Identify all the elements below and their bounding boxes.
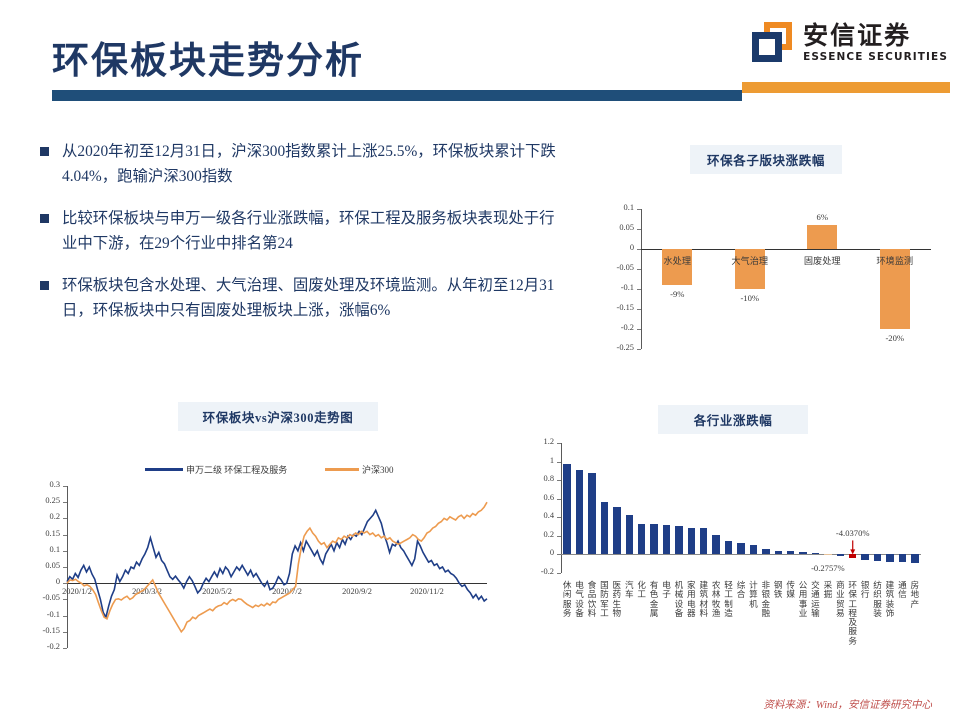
bar-category-label: 电子 — [662, 581, 671, 600]
chart-subsector-bar: 0.10.050-0.05-0.1-0.15-0.2-0.25水处理-9%大气治… — [595, 195, 945, 370]
y-tick — [637, 309, 641, 310]
y-tick — [637, 269, 641, 270]
bar — [911, 554, 918, 562]
y-tick-label: 1.2 — [525, 437, 554, 446]
bar-category-label: 建筑装饰 — [885, 581, 894, 618]
bullet-list: 从2020年初至12月31日，沪深300指数累计上涨25.5%，环保板块累计下跌… — [40, 140, 560, 341]
y-tick-label: 0.05 — [595, 223, 634, 232]
bar — [812, 553, 819, 554]
y-tick — [557, 536, 561, 537]
source-note: 资料来源：Wind，安信证券研究中心 — [763, 697, 932, 712]
bar — [861, 554, 868, 559]
bar — [712, 535, 719, 555]
y-tick-label: 0.1 — [595, 203, 634, 212]
bar-category-label: 通信 — [898, 581, 907, 600]
chart-title-trend: 环保板块vs沪深300走势图 — [178, 402, 378, 431]
y-tick — [557, 480, 561, 481]
bar-category-label: 环保工程及服务 — [848, 581, 857, 646]
header-rule-blue — [52, 90, 742, 101]
bullet-text: 比较环保板块与申万一级各行业涨跌幅，环保工程及服务板块表现处于行业中下游，在29… — [62, 207, 560, 257]
logo-chinese-name: 安信证券 — [803, 23, 948, 48]
bar-category-label: 非银金融 — [761, 581, 770, 618]
bar — [688, 528, 695, 555]
y-tick-label: 0 — [525, 548, 554, 557]
bar-category-label: 大气治理 — [720, 253, 780, 267]
list-item: 从2020年初至12月31日，沪深300指数累计上涨25.5%，环保板块累计下跌… — [40, 140, 560, 190]
y-tick — [557, 517, 561, 518]
bar — [563, 464, 570, 554]
bar-category-label: 建筑材料 — [699, 581, 708, 618]
bar — [775, 551, 782, 555]
list-item: 环保板块包含水处理、大气治理、固废处理及环境监测。从年初至12月31日，环保板块… — [40, 274, 560, 324]
logo-english-name: ESSENCE SECURITIES — [803, 52, 948, 63]
bar-category-label: 机械设备 — [674, 581, 683, 618]
bar-category-label: 汽车 — [625, 581, 634, 600]
bar — [762, 549, 769, 554]
company-logo: 安信证券 ESSENCE SECURITIES — [752, 22, 948, 64]
bar-category-label: 食品饮料 — [588, 581, 597, 618]
bar-category-label: 交通运输 — [811, 581, 820, 618]
series-line — [67, 502, 487, 632]
bar — [750, 545, 757, 554]
bar-category-label: 国防军工 — [600, 581, 609, 618]
bar-category-label: 家用电器 — [687, 581, 696, 618]
bar-category-label: 医药生物 — [612, 581, 621, 618]
y-tick-label: -0.2 — [595, 323, 634, 332]
bar-category-label: 综合 — [737, 581, 746, 600]
bar — [626, 515, 633, 555]
y-axis-line — [641, 209, 642, 349]
page-title: 环保板块走势分析 — [52, 30, 364, 84]
bar — [663, 525, 670, 555]
bullet-square-icon — [40, 281, 49, 290]
bar-category-label: 纺织服装 — [873, 581, 882, 618]
y-tick — [637, 229, 641, 230]
logo-blue-square — [752, 32, 782, 62]
y-tick — [637, 349, 641, 350]
bullet-text: 环保板块包含水处理、大气治理、固废处理及环境监测。从年初至12月31日，环保板块… — [62, 274, 560, 324]
bar — [725, 541, 732, 555]
bar-category-label: 房地产 — [910, 581, 919, 609]
y-tick-label: 0.4 — [525, 511, 554, 520]
bar — [807, 225, 837, 249]
y-tick-label: -0.15 — [595, 303, 634, 312]
bar — [886, 554, 893, 562]
bar-value-label: -10% — [720, 293, 780, 303]
bar-category-label: 电气设备 — [575, 581, 584, 618]
bar-category-label: 轻工制造 — [724, 581, 733, 618]
bar — [824, 554, 831, 555]
chart-title-subsector: 环保各子版块涨跌幅 — [690, 145, 842, 174]
bullet-square-icon — [40, 147, 49, 156]
bar — [787, 551, 794, 554]
y-tick-label: 0.6 — [525, 493, 554, 502]
y-tick — [557, 443, 561, 444]
bullet-square-icon — [40, 214, 49, 223]
y-tick-label: 0 — [595, 243, 634, 252]
y-tick-label: -0.2 — [525, 567, 554, 576]
slide-root: 环保板块走势分析 安信证券 ESSENCE SECURITIES 从2020年初… — [0, 0, 960, 720]
bar — [650, 524, 657, 555]
bar-category-label: 化工 — [637, 581, 646, 600]
logo-text: 安信证券 ESSENCE SECURITIES — [803, 23, 948, 63]
bar — [576, 470, 583, 555]
trend-lines — [25, 462, 510, 687]
y-tick-label: 0.8 — [525, 474, 554, 483]
bar — [700, 528, 707, 554]
bar-category-label: 计算机 — [749, 581, 758, 609]
chart-title-industry: 各行业涨跌幅 — [658, 405, 808, 434]
y-tick-label: 0.2 — [525, 530, 554, 539]
bar — [874, 554, 881, 561]
y-tick — [637, 209, 641, 210]
bar-category-label: 有色金属 — [650, 581, 659, 618]
bar-category-label: 采掘 — [823, 581, 832, 600]
bullet-text: 从2020年初至12月31日，沪深300指数累计上涨25.5%，环保板块累计下跌… — [62, 140, 560, 190]
bar-category-label: 商业贸易 — [836, 581, 845, 618]
bar-category-label: 环境监测 — [865, 253, 925, 267]
bar — [613, 507, 620, 554]
bar-category-label: 传媒 — [786, 581, 795, 600]
bar — [737, 543, 744, 554]
bar-value-label: 6% — [792, 212, 852, 222]
header-rule-orange — [742, 82, 950, 93]
y-tick-label: -0.1 — [595, 283, 634, 292]
y-tick-label: -0.25 — [595, 343, 634, 352]
bar — [899, 554, 906, 562]
bar-category-label: 公用事业 — [799, 581, 808, 618]
y-tick — [557, 573, 561, 574]
bar-value-label: -9% — [647, 289, 707, 299]
bar — [799, 552, 806, 555]
list-item: 比较环保板块与申万一级各行业涨跌幅，环保工程及服务板块表现处于行业中下游，在29… — [40, 207, 560, 257]
bar-category-label: 钢铁 — [774, 581, 783, 600]
y-tick — [557, 462, 561, 463]
y-tick — [557, 499, 561, 500]
y-tick-label: -0.05 — [595, 263, 634, 272]
bar — [675, 526, 682, 555]
annotation-label: -4.0370% — [819, 528, 887, 538]
bar — [588, 473, 595, 555]
bar — [837, 554, 844, 556]
y-tick — [637, 329, 641, 330]
bar-category-label: 农林牧渔 — [712, 581, 721, 618]
y-tick — [637, 289, 641, 290]
bar — [638, 524, 645, 555]
chart-industry-bar: 1.210.80.60.40.20-0.2休闲服务电气设备食品饮料国防军工医药生… — [525, 435, 945, 685]
annotation-label: -0.2757% — [794, 563, 862, 573]
bar — [601, 502, 608, 554]
chart-trend-line: 申万二级 环保工程及服务沪深3000.30.250.20.150.10.050-… — [25, 462, 510, 687]
bar-category-label: 银行 — [861, 581, 870, 600]
logo-mark-icon — [752, 22, 794, 64]
bar-category-label: 固废处理 — [792, 253, 852, 267]
bar — [849, 554, 856, 558]
bar-value-label: -20% — [865, 333, 925, 343]
y-tick-label: 1 — [525, 456, 554, 465]
bar-category-label: 休闲服务 — [563, 581, 572, 618]
bar-category-label: 水处理 — [647, 253, 707, 267]
